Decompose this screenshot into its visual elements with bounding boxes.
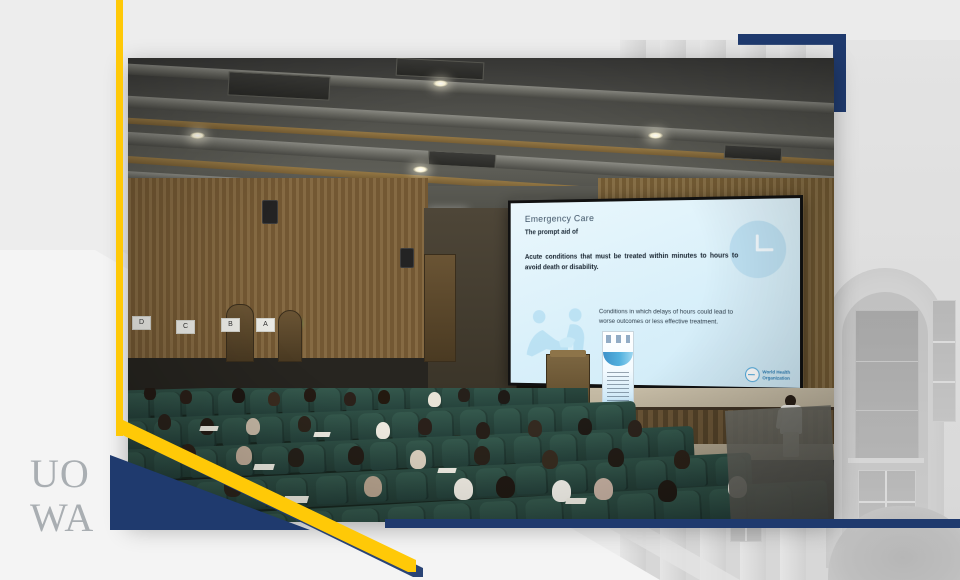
wall-speaker bbox=[262, 200, 278, 224]
poster-canvas: D C B A Emergency Care The prompt aid of… bbox=[0, 0, 960, 580]
banner-logos bbox=[606, 335, 630, 343]
audience-person bbox=[378, 390, 390, 404]
audience-person bbox=[232, 388, 245, 403]
audience-person bbox=[474, 446, 490, 465]
who-line-2: Organization bbox=[762, 375, 790, 380]
slide-secondary-text: Conditions in which delays of hours coul… bbox=[599, 307, 742, 327]
audience-person bbox=[158, 414, 171, 430]
wall-speaker bbox=[400, 248, 414, 268]
logo-line-1: UO bbox=[30, 452, 126, 496]
banner-wave-graphic bbox=[603, 352, 633, 366]
desk-paper bbox=[253, 464, 275, 470]
audience-person bbox=[246, 418, 260, 435]
logo-line-2: WA bbox=[30, 496, 126, 540]
audience-person bbox=[144, 388, 156, 400]
audience-person bbox=[476, 422, 490, 439]
hall-door bbox=[226, 304, 254, 362]
desk-paper bbox=[565, 498, 587, 504]
audience-person bbox=[674, 450, 690, 469]
row-sign-a: A bbox=[256, 318, 275, 332]
who-logo-text: World Health Organization bbox=[762, 369, 790, 380]
who-emblem-icon bbox=[745, 367, 760, 382]
yellow-accent-stripe-vertical bbox=[116, 0, 123, 436]
row-sign-c: C bbox=[176, 320, 195, 334]
slide-subtitle: The prompt aid of bbox=[525, 229, 578, 236]
audience-person bbox=[180, 390, 192, 404]
ceiling-downlight bbox=[648, 132, 663, 139]
row-sign-b: B bbox=[221, 318, 240, 332]
navy-bottom-bar bbox=[385, 519, 960, 528]
audience-person bbox=[542, 450, 558, 469]
watermark-window bbox=[932, 300, 956, 422]
hall-door bbox=[278, 310, 302, 362]
audience-person bbox=[594, 478, 613, 500]
watermark-bay-window bbox=[855, 310, 919, 462]
audience-person bbox=[236, 446, 252, 465]
watermark-ledge bbox=[848, 458, 924, 463]
audience-person bbox=[268, 392, 280, 406]
audience-person bbox=[528, 420, 542, 437]
uowa-logo: UO WA bbox=[30, 452, 126, 542]
audience-person bbox=[428, 392, 441, 407]
audience-person bbox=[304, 388, 316, 402]
audience-person bbox=[298, 416, 311, 432]
audience-person bbox=[364, 476, 382, 497]
ceiling-downlight bbox=[190, 132, 205, 139]
audience-person bbox=[418, 418, 432, 435]
audience-person bbox=[458, 388, 470, 402]
audience-person bbox=[578, 418, 592, 435]
slide-body-text: Acute conditions that must be treated wi… bbox=[525, 251, 738, 274]
slide-title: Emergency Care bbox=[525, 213, 594, 225]
audience-person bbox=[288, 448, 304, 467]
audience-person bbox=[410, 450, 426, 469]
audience-person bbox=[608, 448, 624, 467]
who-logo: World Health Organization bbox=[745, 367, 790, 383]
lecture-hall-photo: D C B A Emergency Care The prompt aid of… bbox=[128, 58, 834, 522]
ceiling-downlight bbox=[433, 80, 448, 87]
audience-person bbox=[454, 478, 473, 500]
audience-person bbox=[376, 422, 390, 439]
desk-paper bbox=[199, 426, 218, 431]
audience-person bbox=[628, 420, 642, 437]
ceiling-downlight bbox=[413, 166, 428, 173]
audience-person bbox=[344, 392, 356, 406]
aisle-floor bbox=[725, 405, 834, 522]
desk-paper bbox=[313, 432, 330, 437]
row-sign-d: D bbox=[132, 316, 151, 330]
desk-paper bbox=[437, 468, 456, 473]
audience-person bbox=[348, 446, 364, 465]
audience-person bbox=[498, 390, 510, 404]
hall-door bbox=[424, 254, 456, 362]
audience-person bbox=[496, 476, 515, 498]
audience-person bbox=[658, 480, 677, 502]
